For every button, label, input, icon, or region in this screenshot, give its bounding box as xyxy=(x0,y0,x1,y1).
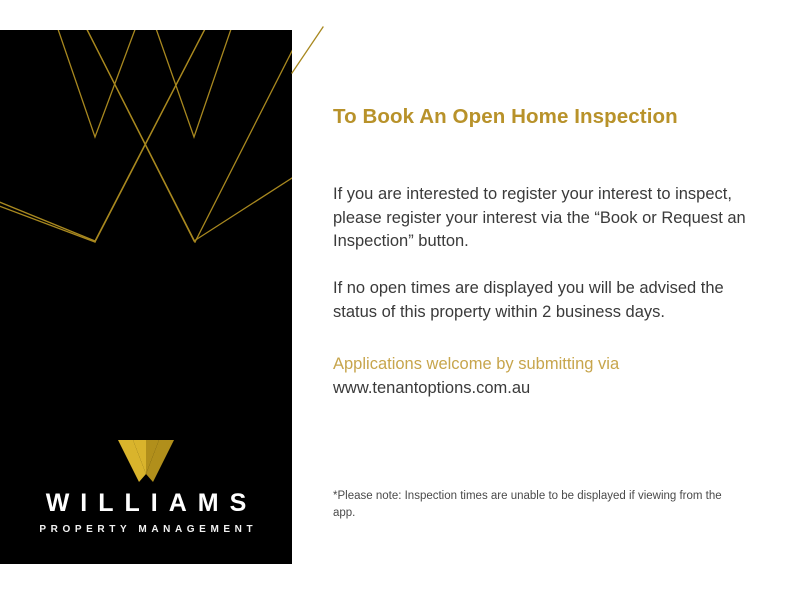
williams-w-monogram-icon xyxy=(118,440,174,482)
brand-panel: WILLIAMS PROPERTY MANAGEMENT xyxy=(0,30,292,564)
instructions-paragraph-register: If you are interested to register your i… xyxy=(333,183,753,255)
applications-block: Applications welcome by submitting via w… xyxy=(333,353,753,401)
instructions-paragraph-no-open-times: If no open times are displayed you will … xyxy=(333,277,753,325)
page-title: To Book An Open Home Inspection xyxy=(333,104,753,130)
slide-canvas: WILLIAMS PROPERTY MANAGEMENT To Book An … xyxy=(0,0,800,600)
applications-url[interactable]: www.tenantoptions.com.au xyxy=(333,377,753,401)
gold-accent-line-icon xyxy=(290,25,350,85)
footnote-text: *Please note: Inspection times are unabl… xyxy=(333,488,733,522)
content-column: To Book An Open Home Inspection If you a… xyxy=(333,104,753,401)
brand-tagline: PROPERTY MANAGEMENT xyxy=(0,524,292,535)
brand-logo: WILLIAMS PROPERTY MANAGEMENT xyxy=(0,440,292,535)
brand-wordmark: WILLIAMS xyxy=(0,490,292,518)
applications-label: Applications welcome by submitting via xyxy=(333,353,753,377)
